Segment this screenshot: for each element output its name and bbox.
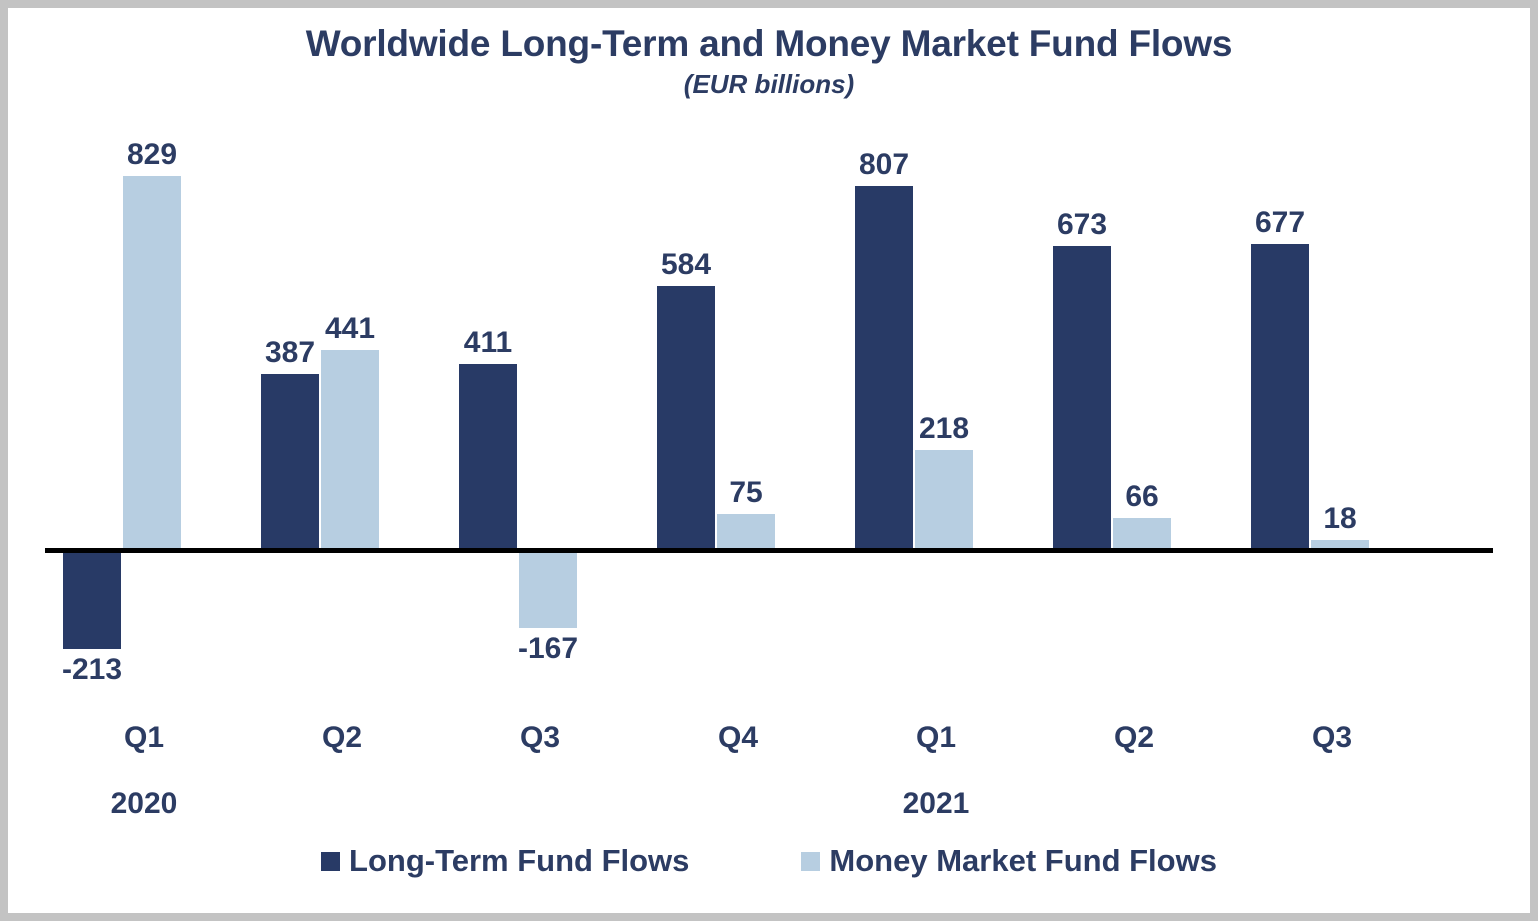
chart-frame: Worldwide Long-Term and Money Market Fun… — [0, 0, 1538, 921]
bar-value-label: 829 — [97, 138, 207, 172]
year-axis: 20202021 — [45, 786, 1493, 828]
bar-value-label: 807 — [829, 148, 939, 182]
bar-value-label: -167 — [493, 632, 603, 666]
bar-value-label: 218 — [889, 412, 999, 446]
chart-subtitle: (EUR billions) — [8, 68, 1530, 100]
category-label: Q4 — [639, 720, 837, 756]
bar-value-label: 441 — [295, 312, 405, 346]
bar-value-label: -213 — [37, 653, 147, 687]
legend-label-long-term: Long-Term Fund Flows — [349, 844, 689, 878]
bar-money-market[interactable] — [123, 176, 181, 548]
title-block: Worldwide Long-Term and Money Market Fun… — [8, 22, 1530, 100]
bar-group: 807218 — [837, 118, 1035, 708]
chart-title: Worldwide Long-Term and Money Market Fun… — [8, 22, 1530, 66]
bar-long-term[interactable] — [459, 364, 517, 548]
bar-money-market[interactable] — [915, 450, 973, 548]
bar-long-term[interactable] — [855, 186, 913, 548]
category-label: Q1 — [45, 720, 243, 756]
category-label: Q1 — [837, 720, 1035, 756]
category-label: Q2 — [243, 720, 441, 756]
bar-long-term[interactable] — [261, 374, 319, 548]
bar-group: 67366 — [1035, 118, 1233, 708]
bar-group: 67718 — [1233, 118, 1431, 708]
legend-item-long-term[interactable]: Long-Term Fund Flows — [321, 844, 689, 878]
category-axis: Q1Q2Q3Q4Q1Q2Q3 — [45, 720, 1493, 762]
legend-swatch-icon-money-market — [801, 852, 820, 871]
bar-value-label: 18 — [1285, 502, 1395, 536]
bar-group: 411-167 — [441, 118, 639, 708]
chart-canvas: Worldwide Long-Term and Money Market Fun… — [8, 8, 1530, 913]
bar-value-label: 584 — [631, 248, 741, 282]
category-label: Q3 — [441, 720, 639, 756]
bar-money-market[interactable] — [321, 350, 379, 548]
category-label: Q3 — [1233, 720, 1431, 756]
bar-group: 387441 — [243, 118, 441, 708]
bar-value-label: 66 — [1087, 480, 1197, 514]
bar-group: 58475 — [639, 118, 837, 708]
legend-label-money-market: Money Market Fund Flows — [829, 844, 1217, 878]
bar-group: -213829 — [45, 118, 243, 708]
bar-long-term[interactable] — [63, 553, 121, 649]
chart-legend: Long-Term Fund Flows Money Market Fund F… — [8, 844, 1530, 878]
plot-area: -213829387441411-16758475807218673666771… — [45, 118, 1493, 708]
bar-money-market[interactable] — [1311, 540, 1369, 548]
bar-money-market[interactable] — [519, 553, 577, 628]
year-label: 2020 — [45, 786, 243, 822]
category-label: Q2 — [1035, 720, 1233, 756]
bar-money-market[interactable] — [717, 514, 775, 548]
bar-value-label: 673 — [1027, 208, 1137, 242]
year-label: 2021 — [837, 786, 1035, 822]
bar-money-market[interactable] — [1113, 518, 1171, 548]
bar-value-label: 677 — [1225, 206, 1335, 240]
bar-value-label: 411 — [433, 326, 543, 360]
legend-swatch-icon-long-term — [321, 852, 340, 871]
legend-item-money-market[interactable]: Money Market Fund Flows — [801, 844, 1217, 878]
bar-value-label: 75 — [691, 476, 801, 510]
